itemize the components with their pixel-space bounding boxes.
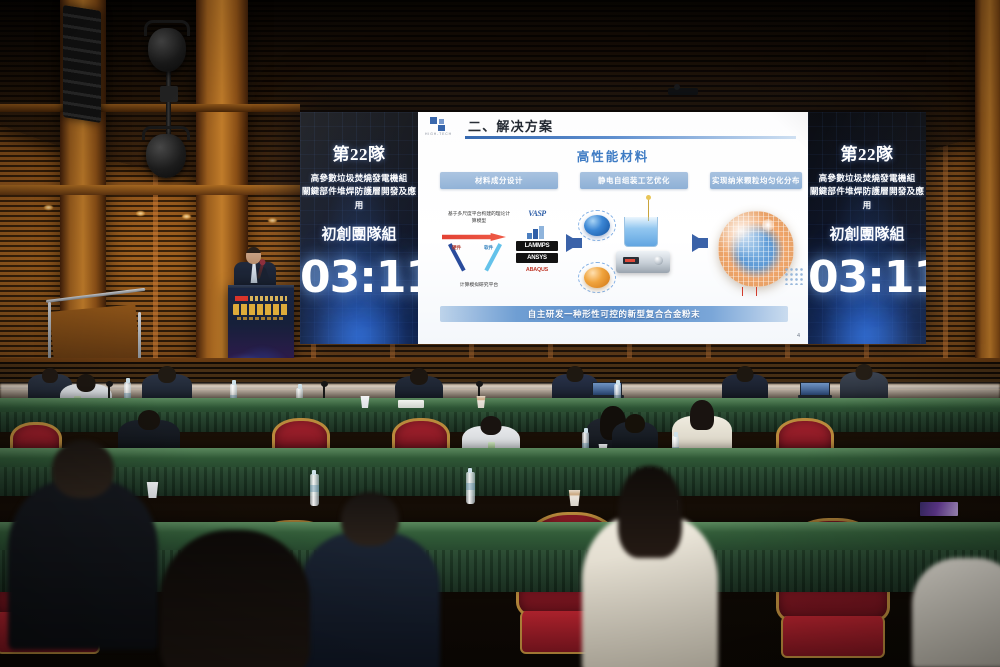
blue-particle-icon [584,215,610,236]
flow-step-nanoparticle-distribution: 实现纳米颗粒均匀化分布 [710,172,802,299]
podium-event-logo [235,295,287,301]
person-head [158,366,176,383]
process-flow-diagram: 材料成分设计 基于多尺度平台构建的理论计算模型 硬件 软件 计算模拟研究平台 V… [418,172,808,300]
flow-step-1-note-bottom: 计算模拟研究平台 [444,281,514,288]
team-category-left: 初創團隊組 [300,223,418,244]
team-project-line1-left: 高參數垃圾焚燒發電機組 [300,172,418,185]
slide-bottom-banner: 自主研发一种形性可控的新型复合合金粉末 [440,306,788,322]
downlight [182,214,191,219]
slide-page-number: 4 [797,333,800,339]
podium-headline-text [233,304,289,315]
red-tick-marker [756,287,757,296]
flow-arrow-icon [692,234,707,252]
stage-staircase-railing [46,300,142,366]
company-logo-icon [430,117,448,132]
flow-arrow-icon [566,234,581,252]
person-head [410,368,428,385]
countdown-timer-left: 03:11 [300,256,418,300]
team-info-panel-left: 第22隊 高參數垃圾焚燒發電機組 關鍵部件堆焊防護層開發及應用 初創團隊組 03… [300,112,418,344]
wall-ledge-lower [0,185,300,195]
moving-head-light [148,28,186,72]
flow-step-1-note-top: 基于多尺度平台构建的理论计算模型 [446,211,512,225]
team-number-left: 第22隊 [300,140,418,165]
dispersion-cloud-icon [784,267,804,285]
team-number-right: 第22隊 [808,140,926,165]
chair-seat [0,612,100,654]
nanoparticle-sphere-icon [718,211,794,287]
downlight [268,218,277,223]
person-head [481,416,502,435]
program-booklet [920,502,958,516]
person-head [138,410,160,430]
person-head [77,374,96,392]
flow-step-electrostatic-assembly: 静电自组装工艺优化 [580,172,688,299]
chair-seat [781,616,886,658]
flow-step-1-caption: 材料成分设计 [440,172,558,189]
paper-cup [568,490,581,506]
water-bottle [310,474,319,506]
chair-seat [242,617,345,658]
laptop [800,382,830,398]
wall-ledge-upper [0,104,300,112]
countdown-timer-right: 03:11 [808,256,926,300]
slide-header: HIGH-TECH 二、解决方案 [418,112,808,142]
vasp-logo: VASP [516,209,558,224]
team-category-right: 初創團隊組 [808,223,926,244]
flow-step-3-caption: 实现纳米颗粒均匀化分布 [710,172,802,189]
abaqus-logo: ABAQUS [516,265,558,275]
flow-step-2-caption: 静电自组装工艺优化 [580,172,688,189]
magnetic-stirrer-icon [616,251,670,273]
person-head [737,366,754,382]
beaker-icon [624,217,658,247]
person-head [567,366,584,382]
projection-screen: 第22隊 高參數垃圾焚燒發電機組 關鍵部件堆焊防護層開發及應用 初創團隊組 03… [300,112,926,344]
person-head [625,414,645,433]
bar-chart-icon [516,225,558,239]
presentation-slide: HIGH-TECH 二、解决方案 高性能材料 材料成分设计 基于多尺度平台构建的… [418,112,808,344]
flow-step-1-label-right: 软件 [484,245,493,251]
chair-seat [924,619,1000,660]
person-head [42,368,58,383]
ansys-logo: ANSYS [516,253,558,263]
moving-head-light [146,134,186,178]
table-skirt [0,550,1000,592]
flow-step-material-design: 材料成分设计 基于多尺度平台构建的理论计算模型 硬件 软件 计算模拟研究平台 V… [440,172,558,299]
logo-wordmark: HIGH-TECH [425,132,452,136]
lattice-texture [718,211,794,287]
lammps-logo: LAMMPS [516,241,558,251]
slide-header-title: 二、解决方案 [468,116,553,135]
ceiling-light-fixture [668,88,698,95]
light-clamp [160,86,178,102]
slide-section-heading: 高性能材料 [418,146,808,165]
team-info-panel-right: 第22隊 高參數垃圾焚燒發電機組 關鍵部件堆焊防護層開發及應用 初創團隊組 03… [808,112,926,344]
line-array-speaker [63,5,101,123]
conference-hall-photo: 第22隊 高參數垃圾焚燒發電機組 關鍵部件堆焊防護層開發及應用 初創團隊組 03… [0,0,1000,667]
audience-table-row-3 [0,522,1000,592]
team-project-line2-left: 關鍵部件堆焊防護層開發及應用 [300,185,418,212]
person-hair [690,400,714,430]
red-arrow-icon [442,233,506,241]
podium-subtext [237,317,285,320]
chair-seat [520,611,623,654]
podium-top-surface [228,285,294,288]
printed-paper [398,400,424,408]
team-project-line2-right: 關鍵部件堆焊防護層開發及應用 [808,185,926,212]
software-logo-stack: VASP LAMMPS ANSYS ABAQUS [516,209,558,275]
stirrer-knob [654,256,663,265]
orange-particle-icon [584,267,610,288]
printed-paper [640,500,678,511]
downlight [44,205,53,210]
flow-step-1-label-left: 硬件 [452,245,461,251]
water-bottle [466,472,475,504]
lattice-defect-highlight [762,219,774,231]
team-project-line1-right: 高參數垃圾焚燒發電機組 [808,172,926,185]
stirrer-display [623,257,639,264]
downlight [136,211,145,216]
red-tick-marker [742,287,743,296]
wall-column-right [975,0,1000,400]
person-head [856,364,873,380]
slide-title-rule [465,136,796,139]
railing-post [48,302,51,362]
audience-area [0,362,1000,667]
